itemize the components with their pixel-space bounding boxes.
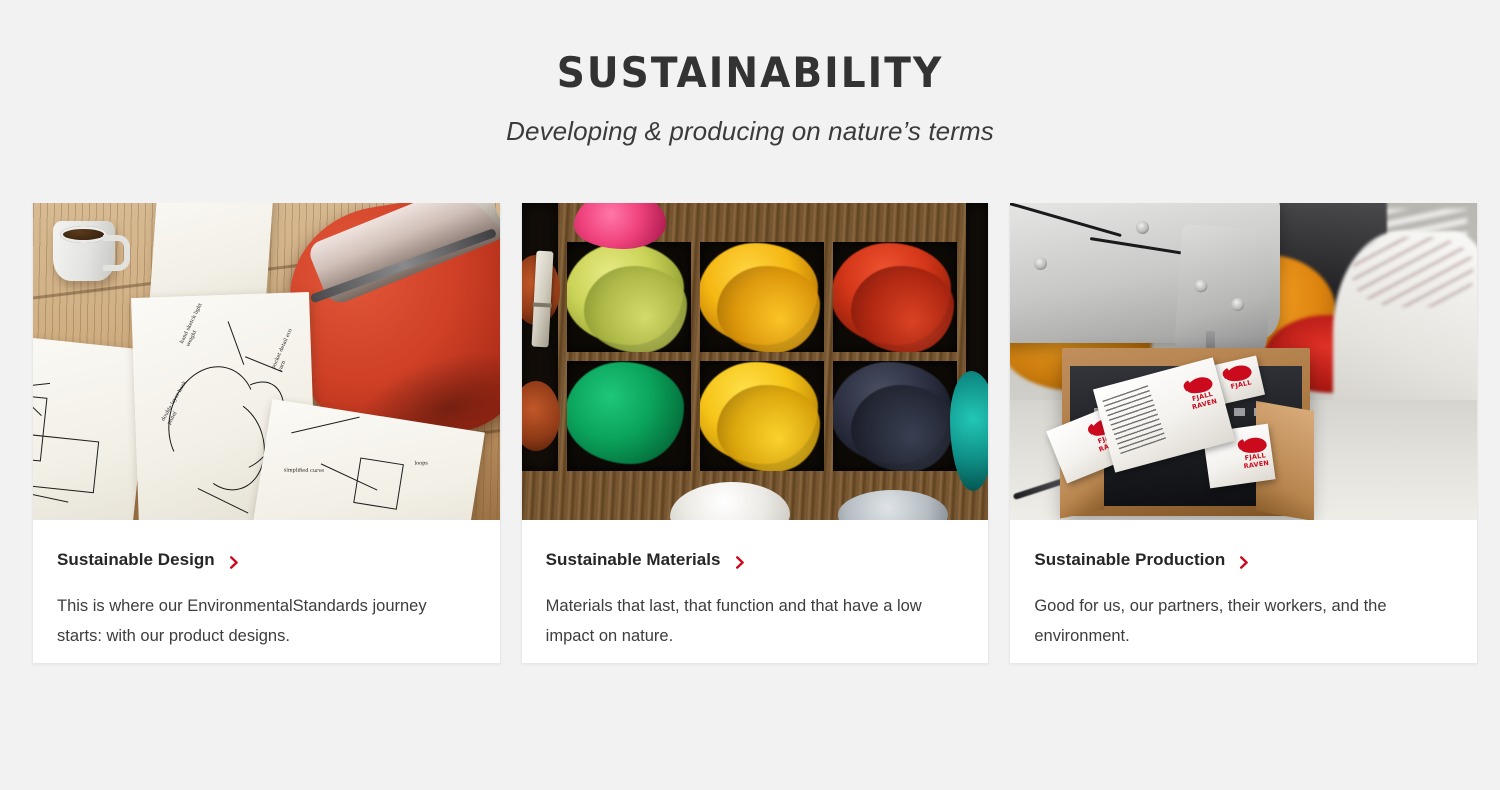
card-heading-sustainable-materials[interactable]: Sustainable Materials	[546, 550, 965, 570]
compartment-yellow-wool	[700, 242, 824, 352]
sketch-annotation: loops	[414, 460, 468, 468]
machine-cable	[1010, 203, 1122, 237]
sketch-line	[353, 457, 404, 509]
wool-fibre	[700, 361, 824, 471]
compartment-green-wool	[567, 361, 691, 471]
fjallraven-logo: FJALL RAVEN	[1240, 436, 1270, 470]
wool-fibre	[700, 242, 824, 352]
card-body-sustainable-production: Sustainable Production Good for us, our …	[1010, 520, 1477, 663]
sketch-line	[33, 383, 50, 389]
sketch-annotation: pocket detail eco yarn	[271, 318, 305, 373]
machine-screw	[1194, 279, 1208, 293]
sewing-machine-arm	[1174, 224, 1275, 362]
chevron-right-icon[interactable]	[228, 554, 241, 567]
wool-fibre	[567, 361, 691, 471]
card-sustainable-production[interactable]: FJALL RAVEN FJALL RAVEN FJALL	[1009, 203, 1478, 664]
page-subtitle: Developing & producing on nature’s terms	[0, 116, 1500, 147]
card-description-sustainable-production: Good for us, our partners, their workers…	[1034, 591, 1434, 651]
sustainability-page: SUSTAINABILITY Developing & producing on…	[0, 0, 1500, 790]
card-heading-sustainable-design[interactable]: Sustainable Design	[57, 550, 476, 570]
card-title-text: Sustainable Production	[1034, 550, 1225, 570]
chevron-right-icon[interactable]	[1238, 554, 1251, 567]
coffee-mug	[53, 221, 115, 281]
page-title: SUSTAINABILITY	[53, 52, 1448, 94]
fjallraven-logo: FJALL	[1225, 363, 1256, 391]
machine-screw	[1034, 257, 1047, 270]
sketch-line	[197, 488, 248, 514]
card-sustainable-materials[interactable]: Sustainable Materials Materials that las…	[521, 203, 990, 664]
wool-fibre	[567, 242, 691, 352]
card-title-text: Sustainable Design	[57, 550, 215, 570]
card-title-text: Sustainable Materials	[546, 550, 721, 570]
card-description-sustainable-design: This is where our EnvironmentalStandards…	[57, 591, 457, 651]
hang-tag-text-block	[1102, 384, 1166, 454]
sketch-line	[291, 417, 360, 434]
card-image-sustainable-design: hand sketch light weight pocket detail e…	[33, 203, 500, 520]
chevron-right-icon[interactable]	[734, 554, 747, 567]
machine-screw	[1136, 221, 1149, 234]
card-body-sustainable-materials: Sustainable Materials Materials that las…	[522, 520, 989, 663]
compartment-navy-wool	[833, 361, 957, 471]
compartment-red-wool	[833, 242, 957, 352]
card-description-sustainable-materials: Materials that last, that function and t…	[546, 591, 946, 651]
fjallraven-logo: FJALL RAVEN	[1185, 375, 1218, 412]
card-image-sustainable-production: FJALL RAVEN FJALL RAVEN FJALL	[1010, 203, 1477, 520]
wooden-compartment-grid	[522, 203, 989, 520]
card-image-sustainable-materials	[522, 203, 989, 520]
striped-fabric-detail	[1353, 237, 1473, 307]
pink-wool-tuft	[574, 203, 666, 249]
brand-name-line-2: RAVEN	[1244, 460, 1270, 470]
sketch-annotation: simplified curve	[284, 467, 338, 475]
compartment-chartreuse-wool	[567, 242, 691, 352]
card-sustainable-design[interactable]: hand sketch light weight pocket detail e…	[32, 203, 501, 664]
sustainability-card-row: hand sketch light weight pocket detail e…	[32, 203, 1478, 664]
sketch-annotation: hand sketch light weight	[179, 293, 215, 347]
card-body-sustainable-design: Sustainable Design This is where our Env…	[33, 520, 500, 663]
wool-fibre	[833, 361, 957, 471]
sketch-line	[227, 321, 244, 365]
machine-screw	[1231, 298, 1245, 312]
wool-fibre	[833, 242, 957, 352]
compartment-yellow-wool-lower	[700, 361, 824, 471]
sketch-line	[33, 434, 99, 493]
page-header: SUSTAINABILITY Developing & producing on…	[0, 0, 1500, 147]
card-heading-sustainable-production[interactable]: Sustainable Production	[1034, 550, 1453, 570]
